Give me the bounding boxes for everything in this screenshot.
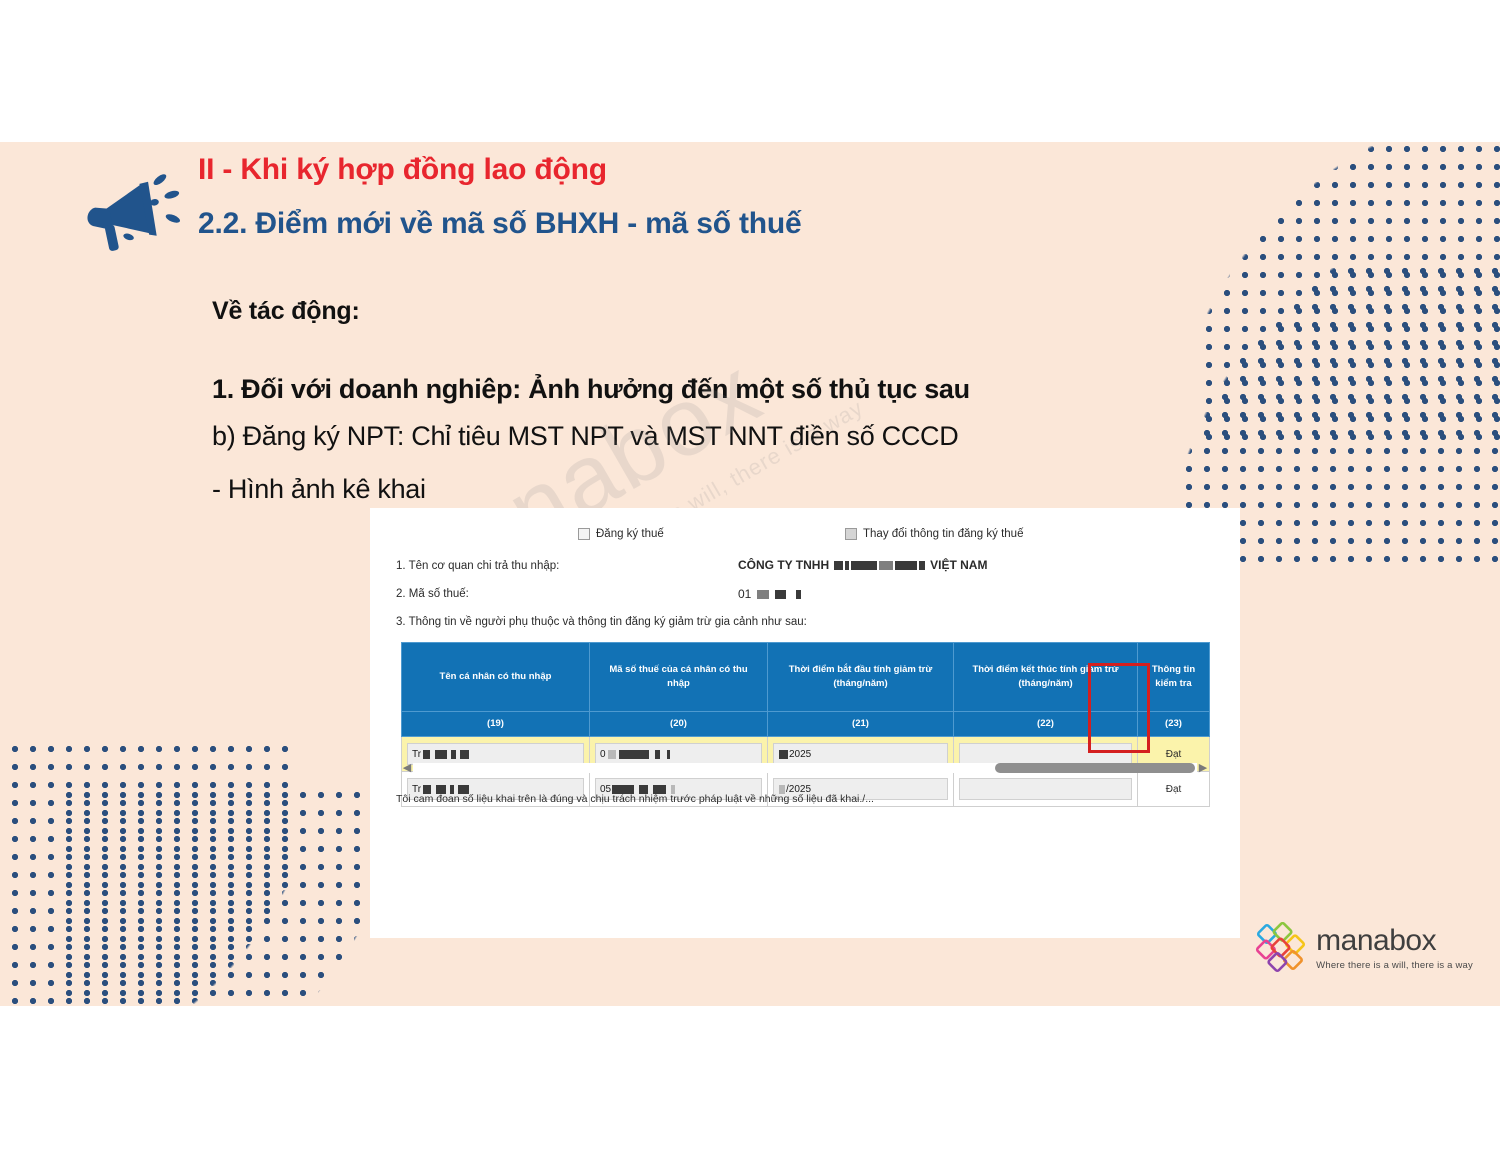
tax-code-prefix: 01 <box>738 587 751 601</box>
redaction-bar <box>757 590 769 599</box>
scroll-right-arrow-icon[interactable]: ▶ <box>1197 763 1209 774</box>
dot-pattern-top-right <box>1200 142 1500 452</box>
slide-canvas: II - Khi ký hợp đồng lao động 2.2. Điểm … <box>0 142 1500 1006</box>
redaction-bar <box>919 561 925 570</box>
dot-pattern-bottom-left <box>0 740 290 1006</box>
redaction-bar <box>619 750 649 759</box>
table-header-cell: Tên cá nhân có thu nhập <box>402 643 590 712</box>
redaction-bar <box>851 561 877 570</box>
checkbox-register-tax[interactable]: Đăng ký thuế <box>578 528 664 540</box>
scrollbar-track[interactable] <box>413 763 1197 773</box>
checkbox-change-tax-info[interactable]: Thay đổi thông tin đăng ký thuế <box>845 528 1023 540</box>
company-name-value: CÔNG TY TNHH VIỆT NAM <box>738 558 987 572</box>
redaction-bar <box>667 750 670 759</box>
manabox-logo: manabox Where there is a will, there is … <box>1255 922 1473 974</box>
redaction-bar <box>834 561 843 570</box>
column-number: (23) <box>1138 712 1210 737</box>
checkbox-register-tax-label: Đăng ký thuế <box>596 528 664 540</box>
megaphone-icon <box>80 158 188 266</box>
page-subtitle: 2.2. Điểm mới về mã số BHXH - mã số thuế <box>198 206 802 242</box>
checkbox-unchecked-icon[interactable] <box>578 528 590 540</box>
redaction-bar <box>655 750 660 759</box>
form-line-1: 1. Tên cơ quan chi trả thu nhập: <box>396 560 559 572</box>
dependents-table: Tên cá nhân có thu nhập Mã số thuế của c… <box>401 642 1210 807</box>
form-line-3: 3. Thông tin về người phụ thuộc và thông… <box>396 616 807 628</box>
point-b-text: b) Đăng ký NPT: Chỉ tiêu MST NPT và MST … <box>212 421 970 452</box>
redaction-bar <box>779 750 788 759</box>
manabox-wordmark: manabox <box>1316 926 1473 956</box>
table-header-row: Tên cá nhân có thu nhập Mã số thuế của c… <box>402 643 1210 712</box>
manabox-tagline: Where there is a will, there is a way <box>1316 960 1473 971</box>
redaction-bar <box>423 750 430 759</box>
company-name-prefix: CÔNG TY TNHH <box>738 558 829 572</box>
column-number: (21) <box>768 712 954 737</box>
lede-text: Về tác động: <box>212 297 970 326</box>
column-number: (22) <box>954 712 1138 737</box>
point-c-text: - Hình ảnh kê khai <box>212 474 970 505</box>
redaction-bar <box>451 750 456 759</box>
embedded-form-screenshot: Đăng ký thuế Thay đổi thông tin đăng ký … <box>370 508 1240 938</box>
tax-code-value: 01 <box>738 587 802 601</box>
table-header-cell: Thời điểm bắt đầu tính giảm trừ (tháng/n… <box>768 643 954 712</box>
page-title: II - Khi ký hợp đồng lao động <box>198 152 802 188</box>
form-footer-text: Tôi cam đoan số liệu khai trên là đúng v… <box>396 793 874 805</box>
table-header-cell: Thông tin kiểm tra <box>1138 643 1210 712</box>
redaction-bar <box>775 590 786 599</box>
body-copy: Về tác động: 1. Đối với doanh nghiêp: Ản… <box>212 297 970 505</box>
company-name-suffix: VIỆT NAM <box>930 558 987 572</box>
column-number: (19) <box>402 712 590 737</box>
cell-check-status: Đạt <box>1138 772 1210 807</box>
redaction-bar <box>608 750 616 759</box>
scrollbar-thumb[interactable] <box>995 763 1195 773</box>
checkbox-change-tax-info-label: Thay đổi thông tin đăng ký thuế <box>863 528 1023 540</box>
table-header-cell: Mã số thuế của cá nhân có thu nhập <box>590 643 768 712</box>
redaction-bar <box>879 561 893 570</box>
manabox-logo-mark-icon <box>1255 922 1307 974</box>
table-number-row: (19) (20) (21) (22) (23) <box>402 712 1210 737</box>
form-line-2: 2. Mã số thuế: <box>396 588 469 600</box>
cell-end-date[interactable] <box>954 772 1138 807</box>
horizontal-scrollbar[interactable]: ◀ ▶ <box>401 761 1209 775</box>
redaction-bar <box>435 750 447 759</box>
redaction-bar <box>895 561 917 570</box>
scroll-left-arrow-icon[interactable]: ◀ <box>401 763 413 774</box>
checkbox-checked-icon[interactable] <box>845 528 857 540</box>
point-one-text: 1. Đối với doanh nghiêp: Ảnh hưởng đến m… <box>212 374 970 405</box>
redaction-bar <box>796 590 801 599</box>
redaction-bar <box>845 561 849 570</box>
slide-header: II - Khi ký hợp đồng lao động 2.2. Điểm … <box>80 152 802 266</box>
redaction-bar <box>460 750 469 759</box>
table-header-cell: Thời điểm kết thúc tính giảm trừ (tháng/… <box>954 643 1138 712</box>
dot-pattern-bottom-left-secondary <box>60 786 360 1006</box>
column-number: (20) <box>590 712 768 737</box>
